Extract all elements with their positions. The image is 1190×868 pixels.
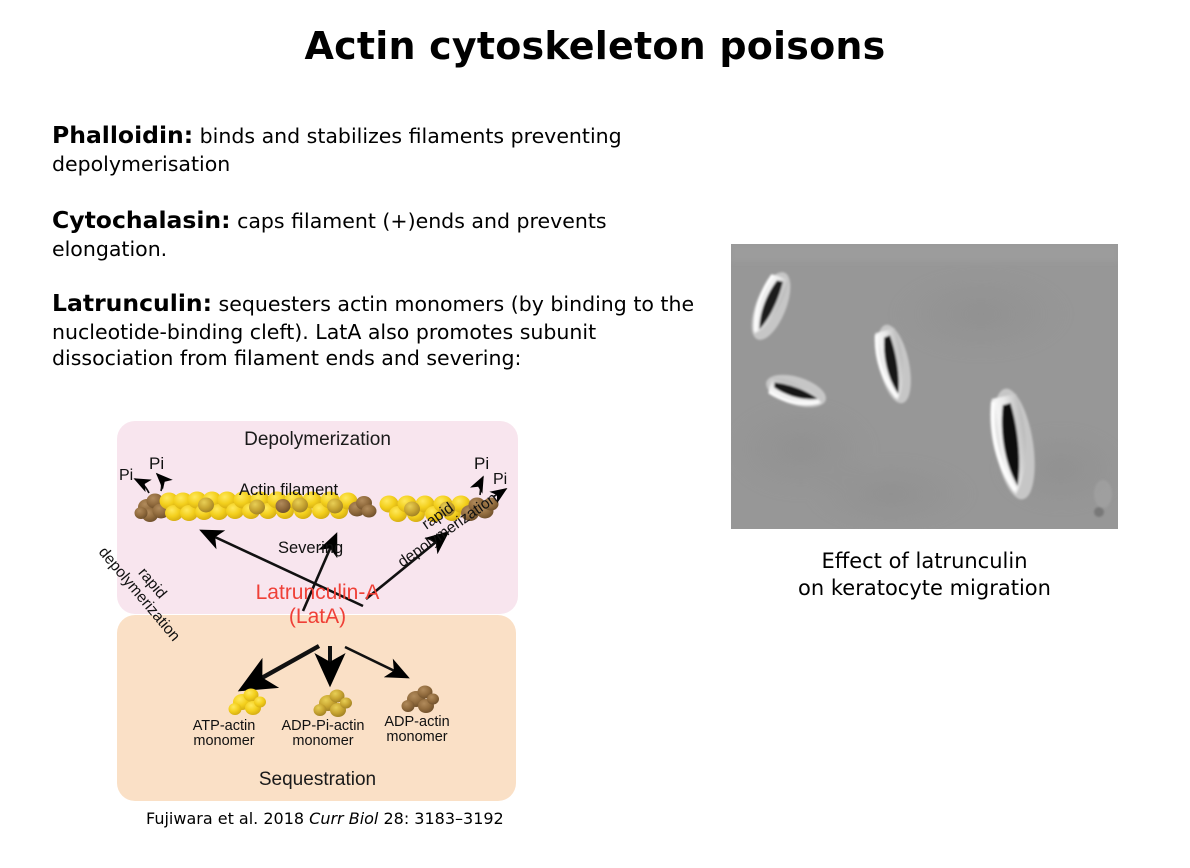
latrunculin-a-abbrev: (LatA)	[117, 605, 518, 629]
monomer-label-adp-pi-actin: ADP-Pi-actin monomer	[265, 719, 381, 749]
latrunculin-a-name: Latrunculin-A	[117, 581, 518, 605]
sequestration-arrow-adp	[345, 647, 407, 677]
latrunculin-mechanism-figure: Depolymerization Actin filament Severing…	[117, 421, 518, 801]
figure-citation: Fujiwara et al. 2018 Curr Biol 28: 3183–…	[146, 809, 504, 828]
monomer-blob-atp-actin	[229, 689, 267, 716]
citation-volume-pages: 28: 3183–3192	[378, 809, 503, 828]
bullet-phalloidin: Phalloidin: binds and stabilizes filamen…	[52, 120, 702, 177]
sequestration-arrow-atp	[242, 646, 319, 689]
depolymerization-heading: Depolymerization	[117, 429, 518, 451]
citation-journal: Curr Biol	[309, 809, 378, 828]
sequestration-heading: Sequestration	[117, 769, 518, 791]
actin-filament-label: Actin filament	[239, 481, 338, 500]
citation-authors: Fujiwara et al. 2018	[146, 809, 309, 828]
monomer-label-adp-actin: ADP-actin monomer	[369, 715, 465, 745]
monomer-blob-adp-pi-actin	[314, 690, 353, 718]
micrograph-graphics	[731, 244, 1118, 529]
bullet-latrunculin-term: Latrunculin:	[52, 289, 212, 317]
pi-label-right-inner: Pi	[474, 454, 489, 474]
micrograph-caption: Effect of latrunculin on keratocyte migr…	[731, 548, 1118, 602]
bullet-cytochalasin: Cytochalasin: caps filament (+)ends and …	[52, 205, 702, 262]
monomer-label-atp-actin: ATP-actin monomer	[172, 719, 276, 749]
page-title: Actin cytoskeleton poisons	[0, 24, 1190, 68]
pi-label-left-inner: Pi	[149, 454, 164, 474]
pi-label-left-outer: Pi	[119, 467, 133, 485]
pi-label-right-outer: Pi	[493, 471, 507, 489]
severing-label: Severing	[278, 539, 343, 558]
bullet-cytochalasin-term: Cytochalasin:	[52, 206, 231, 234]
bullet-phalloidin-term: Phalloidin:	[52, 121, 193, 149]
pi-release-arrow-left-a	[135, 479, 149, 493]
keratocyte-micrograph	[731, 244, 1118, 529]
bullet-latrunculin: Latrunculin: sequesters actin monomers (…	[52, 288, 702, 372]
pi-release-arrow-left-b	[157, 474, 162, 491]
monomer-blob-adp-actin	[402, 686, 440, 714]
latrunculin-a-label: Latrunculin-A (LatA)	[117, 581, 518, 628]
